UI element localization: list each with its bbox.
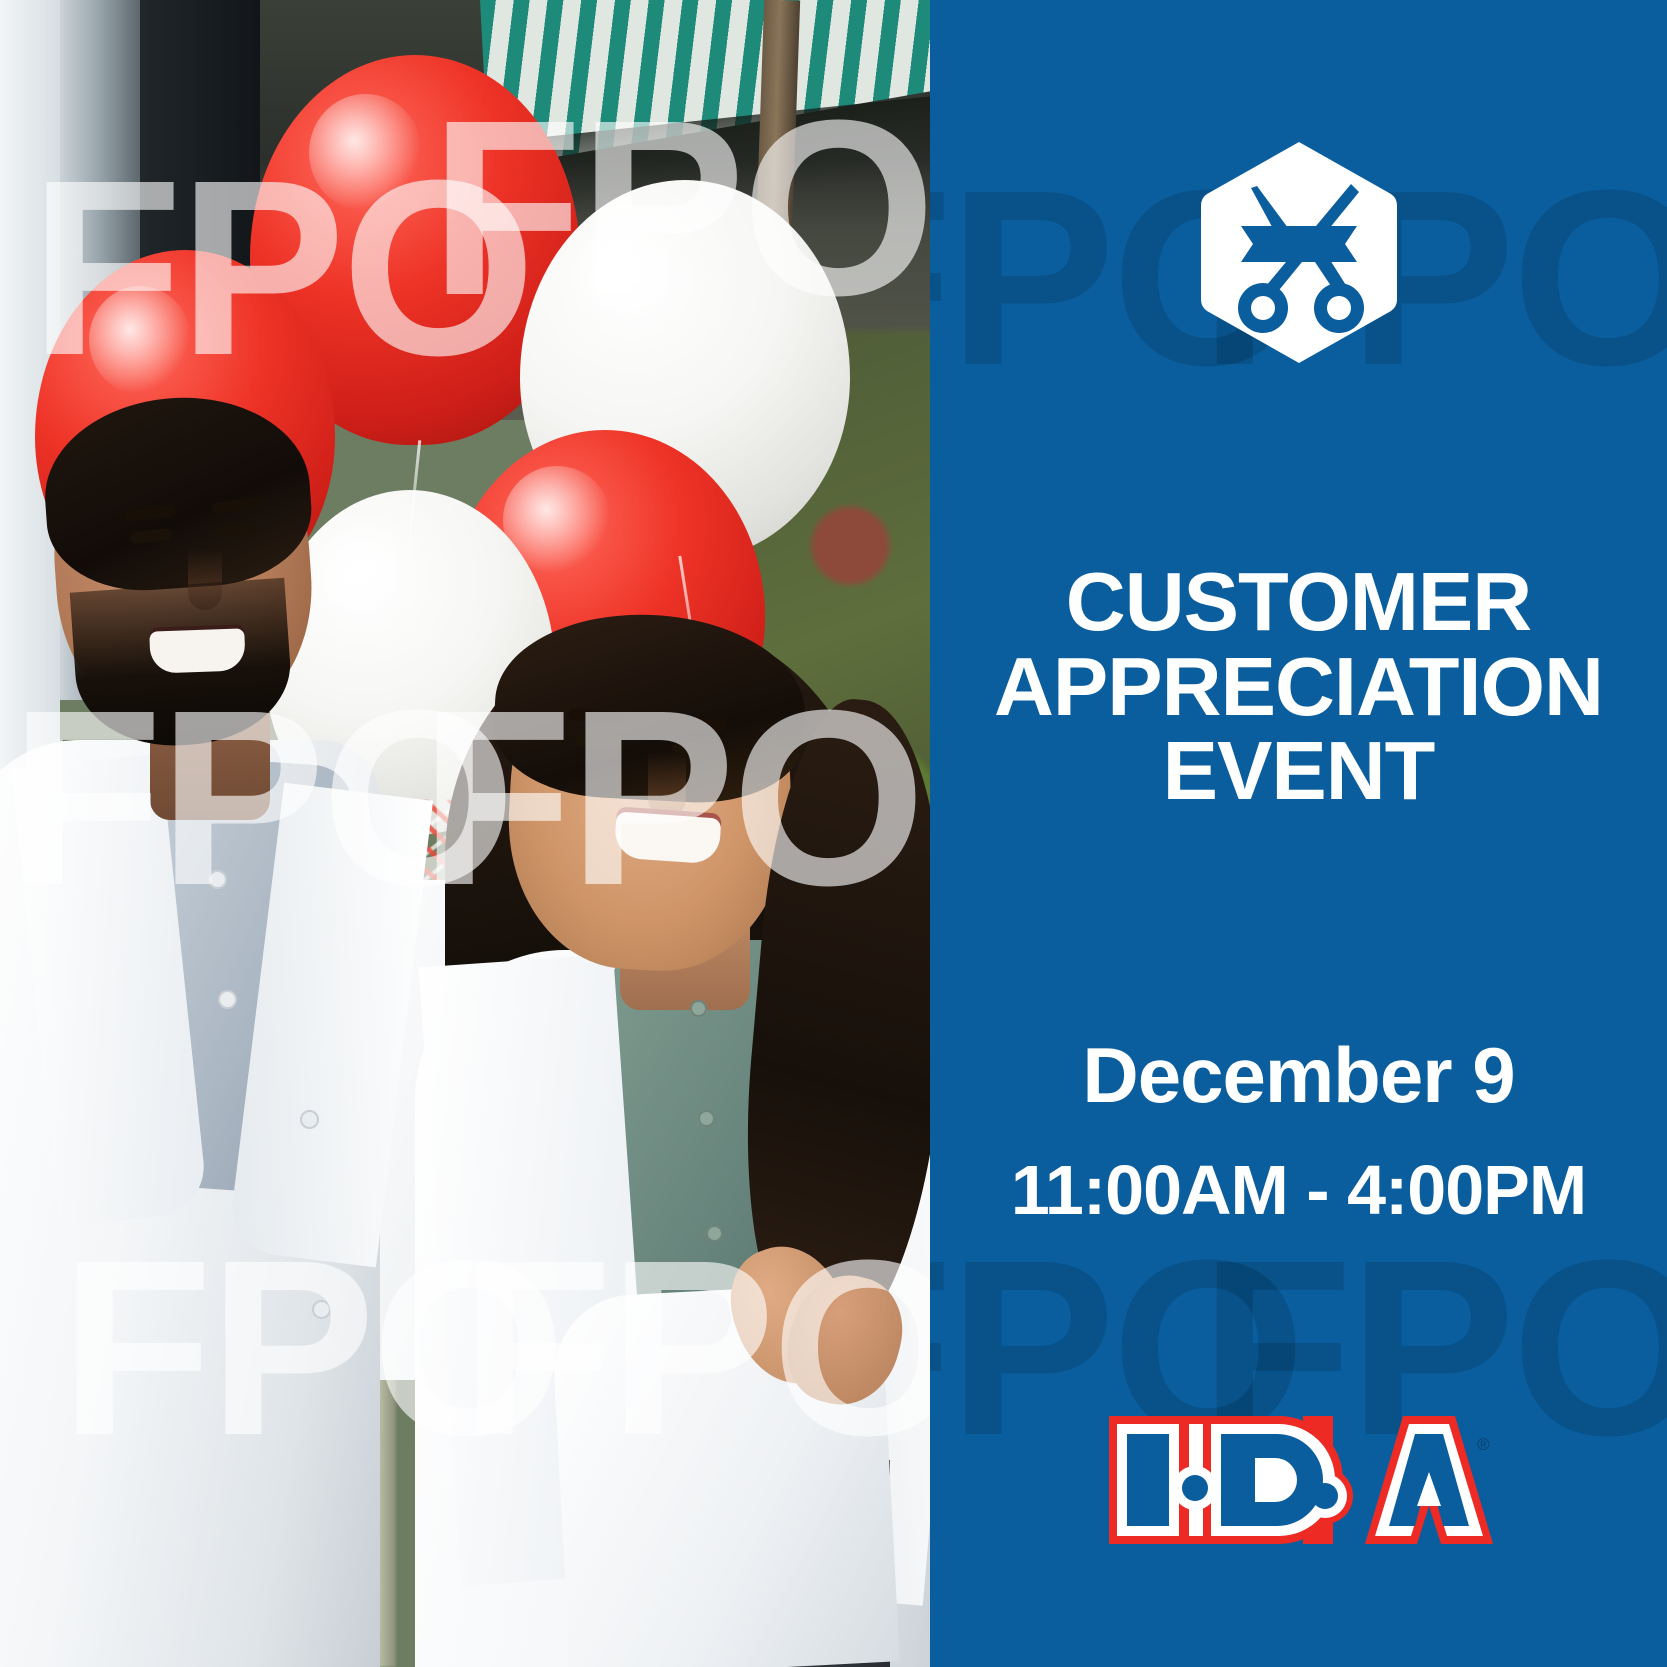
registered-trademark-symbol: ® (1477, 1435, 1490, 1454)
coat-button (300, 1110, 319, 1129)
info-panel: FPO FPO FPO FPO (930, 0, 1667, 1667)
scissors-ribbon-cutting-icon (1199, 140, 1399, 365)
shirt-button (208, 870, 227, 889)
event-time: 11:00AM - 4:00PM (930, 1150, 1667, 1230)
promo-poster: FPO FPO FPO FPO FPO FPO FPO FPO FPO FPO (0, 0, 1667, 1667)
blouse-button (698, 1110, 715, 1127)
pharmacist-man-smile (149, 628, 245, 673)
event-date: December 9 (930, 1030, 1667, 1121)
pharmacist-woman-nose (648, 752, 686, 818)
coat-button (312, 1300, 331, 1319)
ida-logo: ® (1103, 1410, 1495, 1550)
page-title: CUSTOMER APPRECIATION EVENT (930, 560, 1667, 814)
headline-line-2: APPRECIATION (952, 645, 1645, 730)
shirt-button (218, 990, 237, 1009)
blouse-button (690, 1000, 707, 1017)
headline-line-1: CUSTOMER (952, 560, 1645, 645)
blouse-button (706, 1225, 723, 1242)
event-photo: FPO FPO FPO FPO FPO FPO (0, 0, 930, 1667)
ribbon-cutting-badge (1199, 140, 1399, 365)
headline-line-3: EVENT (952, 729, 1645, 814)
